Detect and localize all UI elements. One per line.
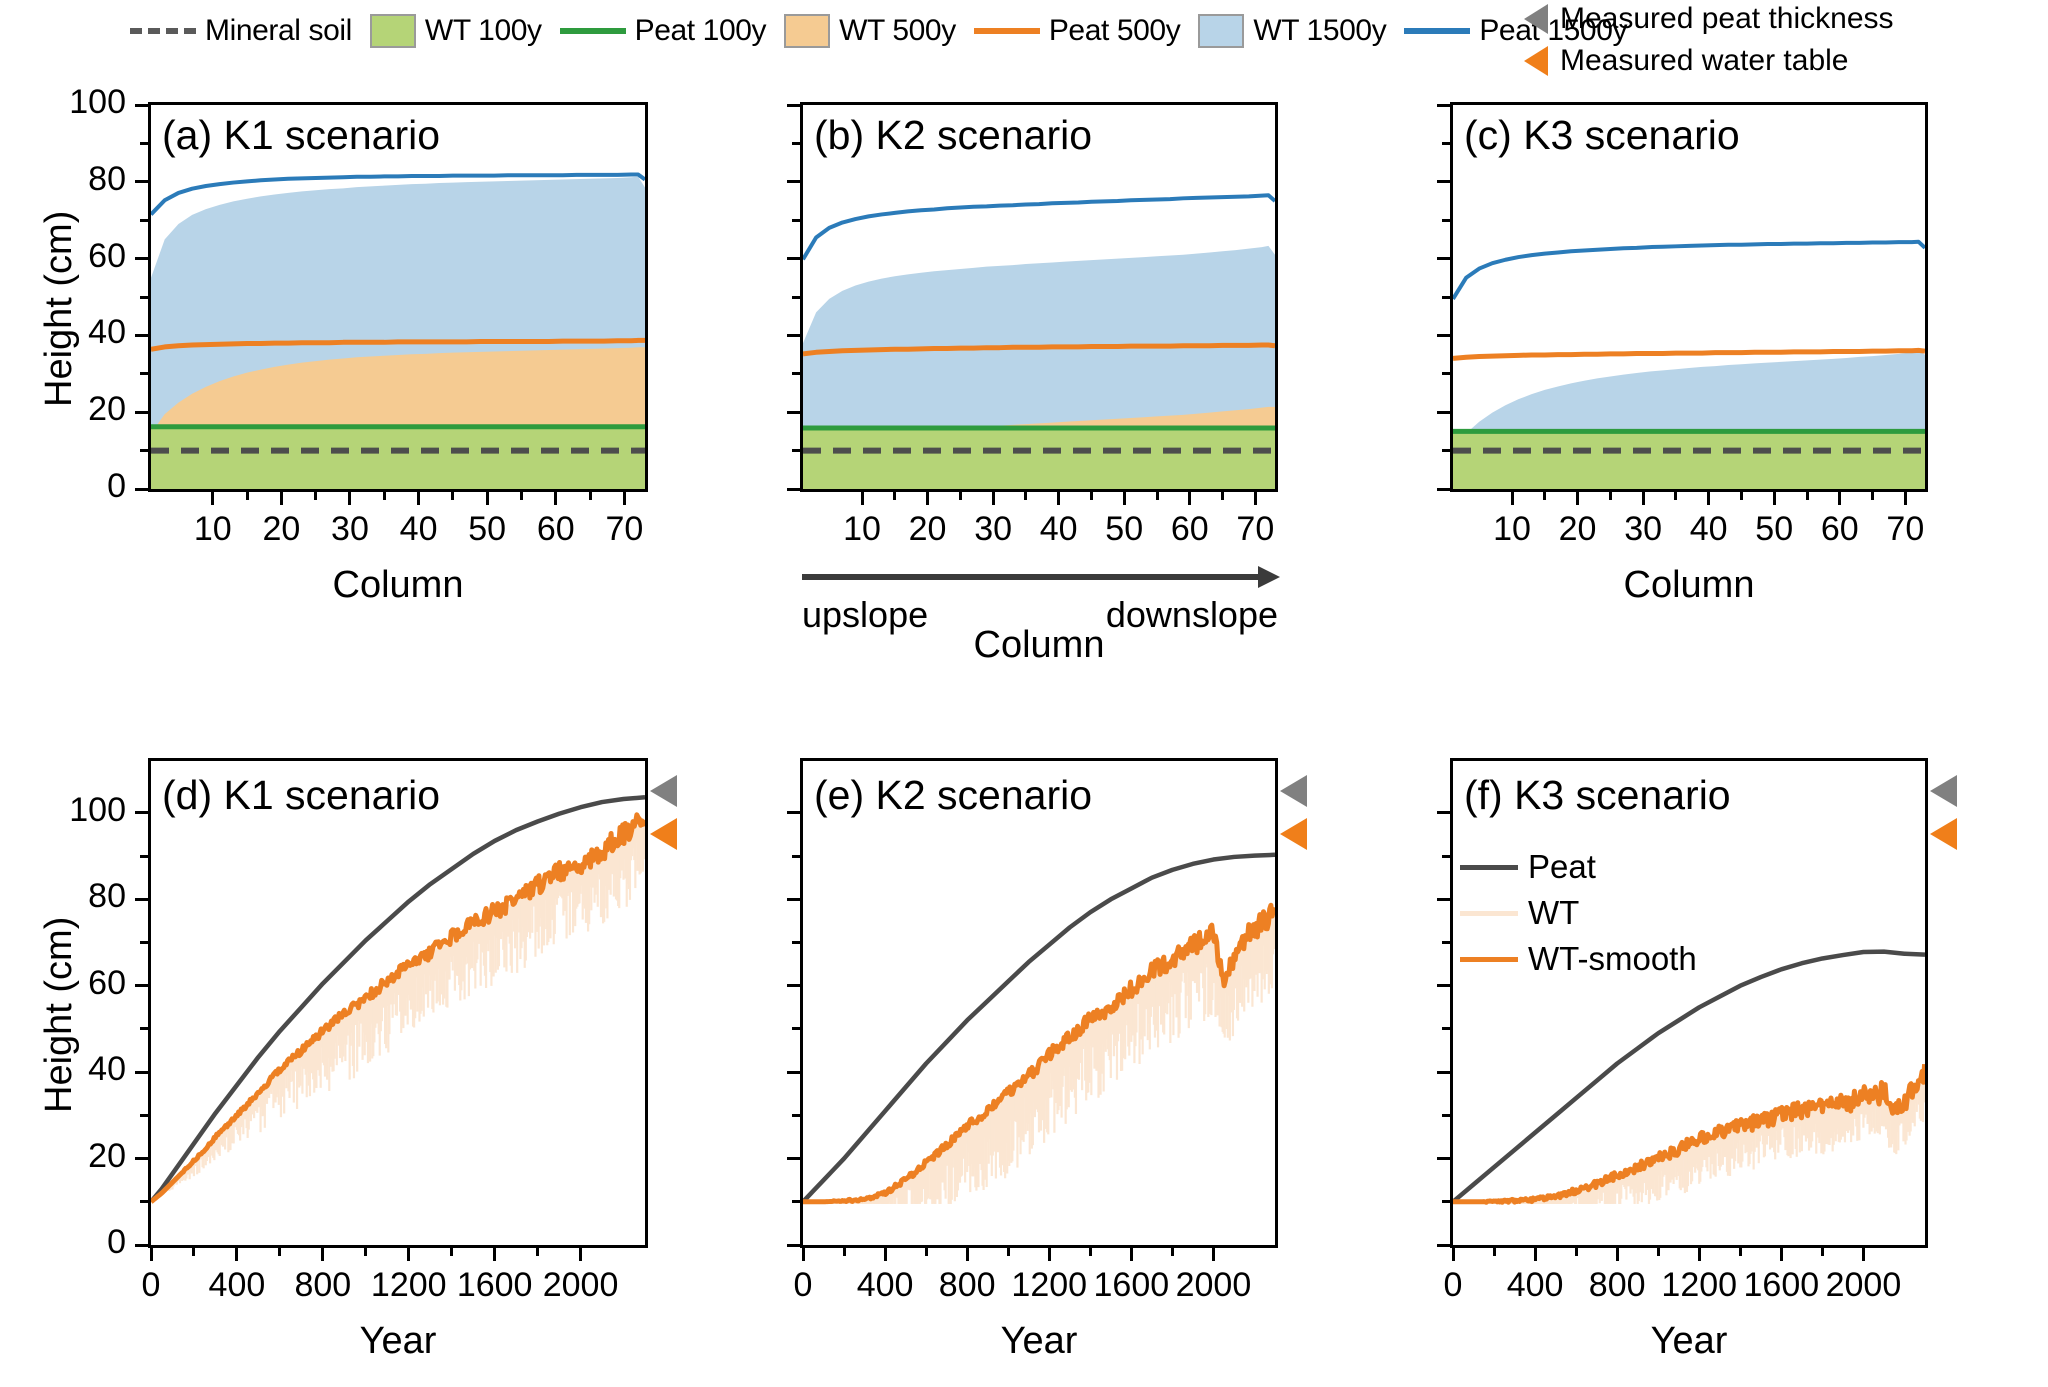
y-tick: [135, 488, 148, 491]
x-tick: [554, 492, 557, 505]
y-tick-label: 0: [107, 1223, 126, 1262]
area-wt-100y: [151, 428, 645, 489]
y-tick: [787, 104, 800, 107]
x-tick-label: 1600: [1094, 1266, 1170, 1305]
x-tick-label: 1200: [1011, 1266, 1087, 1305]
x-minor-tick: [1024, 492, 1027, 500]
wt-500y-swatch-icon: [784, 14, 830, 48]
y-minor-tick: [140, 941, 148, 944]
panel-title-b: (b) K2 scenario: [814, 112, 1092, 159]
line-peat-500y: [151, 340, 645, 349]
plot-area-b: [800, 102, 1278, 492]
legend-label: Peat 500y: [1049, 14, 1181, 48]
line-peat-1500y: [151, 175, 645, 215]
y-minor-tick: [140, 855, 148, 858]
y-tick-label: 60: [88, 964, 126, 1003]
y-tick: [135, 411, 148, 414]
measured-peat-thickness-marker: [1280, 775, 1307, 807]
x-tick: [1838, 492, 1841, 505]
y-minor-tick: [1442, 449, 1450, 452]
panel-a: (a) K1 scenario0204060801001020304050607…: [0, 0, 2048, 1387]
y-tick-label: 20: [88, 390, 126, 429]
peat-500y-line-icon: [974, 28, 1040, 34]
y-minor-tick: [1442, 1200, 1450, 1203]
x-tick-label: 30: [974, 510, 1012, 549]
downslope-label: downslope: [1106, 594, 1278, 636]
measured-legend: Measured peat thicknessMeasured water ta…: [1524, 0, 2044, 82]
x-minor-tick: [314, 492, 317, 500]
wt-100y-swatch-icon: [370, 14, 416, 48]
y-tick-label: 0: [107, 467, 126, 506]
y-tick: [787, 488, 800, 491]
x-minor-tick: [1089, 1248, 1092, 1256]
x-tick: [966, 1248, 969, 1261]
plot-canvas-d: [151, 761, 645, 1245]
x-minor-tick: [1221, 492, 1224, 500]
x-minor-tick: [1007, 1248, 1010, 1256]
y-tick: [135, 1071, 148, 1074]
y-tick: [787, 257, 800, 260]
y-tick: [787, 1244, 800, 1247]
x-tick-label: 70: [1886, 510, 1924, 549]
x-tick: [1698, 1248, 1701, 1261]
x-minor-tick: [192, 1248, 195, 1256]
x-tick: [486, 492, 489, 505]
y-minor-tick: [1442, 941, 1450, 944]
x-axis-label-f: Year: [1651, 1320, 1728, 1363]
y-minor-tick: [792, 219, 800, 222]
x-tick: [1188, 492, 1191, 505]
wt-1500y-swatch-icon: [1198, 14, 1244, 48]
y-minor-tick: [140, 449, 148, 452]
figure-root: Mineral soilWT 100yPeat 100yWT 500yPeat …: [0, 0, 2048, 1387]
x-minor-tick: [1575, 1248, 1578, 1256]
arrow-shaft: [802, 574, 1258, 580]
y-tick: [135, 898, 148, 901]
legend-item-peat-100y[interactable]: Peat 100y: [560, 14, 767, 48]
x-tick: [150, 1248, 153, 1261]
legend-label: WT 1500y: [1253, 14, 1386, 48]
legend-label: Measured peat thickness: [1560, 2, 1894, 36]
x-minor-tick: [1740, 492, 1743, 500]
y-tick: [787, 411, 800, 414]
x-tick: [1130, 1248, 1133, 1261]
legend-item-wt-100y[interactable]: WT 100y: [370, 14, 542, 48]
plot-canvas-a: [151, 105, 645, 489]
wt-line-icon: [1460, 911, 1518, 916]
panel-legend-label: Peat: [1528, 848, 1596, 886]
x-tick: [623, 492, 626, 505]
x-minor-tick: [843, 1248, 846, 1256]
area-wt-500y: [803, 407, 1275, 489]
line-peat-1500y: [1453, 242, 1925, 299]
x-tick: [802, 1248, 805, 1261]
y-tick: [135, 1244, 148, 1247]
panel-legend-item-wt[interactable]: WT: [1460, 890, 1697, 936]
y-tick: [1437, 1244, 1450, 1247]
x-tick-label: 1200: [1661, 1266, 1737, 1305]
arrow-head-icon: [1258, 566, 1280, 588]
top-legend: Mineral soilWT 100yPeat 100yWT 500yPeat …: [0, 0, 1720, 62]
x-axis-label-d: Year: [360, 1320, 437, 1363]
x-minor-tick: [364, 1248, 367, 1256]
x-minor-tick: [1609, 492, 1612, 500]
x-tick: [280, 492, 283, 505]
x-minor-tick: [959, 492, 962, 500]
x-tick-label: 60: [1821, 510, 1859, 549]
y-tick: [1437, 811, 1450, 814]
line-wt-smooth: [1453, 1064, 1925, 1202]
x-tick-label: 50: [1105, 510, 1143, 549]
y-axis-label-d: Height (cm): [38, 917, 81, 1113]
x-tick-label: 0: [142, 1266, 161, 1305]
x-minor-tick: [520, 492, 523, 500]
y-minor-tick: [1442, 372, 1450, 375]
legend-item-measured-water-table[interactable]: Measured water table: [1524, 40, 2044, 82]
x-tick-label: 30: [1624, 510, 1662, 549]
area-wt-100y: [1453, 433, 1925, 489]
x-minor-tick: [278, 1248, 281, 1256]
y-tick-label: 60: [88, 237, 126, 276]
y-minor-tick: [140, 1200, 148, 1203]
line-peat: [1453, 952, 1925, 1202]
x-tick-label: 60: [537, 510, 575, 549]
y-tick: [787, 180, 800, 183]
measured-water-table-marker: [1930, 818, 1957, 850]
y-tick-label: 40: [88, 313, 126, 352]
measured-water-table-marker: [1280, 818, 1307, 850]
x-tick: [1904, 492, 1907, 505]
x-tick-label: 70: [1236, 510, 1274, 549]
y-tick: [787, 984, 800, 987]
y-minor-tick: [792, 1027, 800, 1030]
y-minor-tick: [140, 1027, 148, 1030]
y-tick: [135, 104, 148, 107]
measured-water-table-triangle-icon: [1524, 46, 1548, 76]
x-tick-label: 40: [1040, 510, 1078, 549]
y-tick: [135, 984, 148, 987]
x-tick-label: 1600: [1744, 1266, 1820, 1305]
legend-item-measured-peat-thickness[interactable]: Measured peat thickness: [1524, 0, 2044, 40]
x-tick: [1254, 492, 1257, 505]
y-tick: [1437, 334, 1450, 337]
x-minor-tick: [1543, 492, 1546, 500]
y-tick: [135, 1157, 148, 1160]
x-minor-tick: [1821, 1248, 1824, 1256]
y-minor-tick: [792, 941, 800, 944]
y-minor-tick: [792, 296, 800, 299]
x-tick: [1642, 492, 1645, 505]
x-tick: [1452, 1248, 1455, 1261]
x-tick: [1123, 492, 1126, 505]
x-tick: [493, 1248, 496, 1261]
wt-smooth-line-icon: [1460, 957, 1518, 962]
y-tick: [135, 257, 148, 260]
legend-item-peat-500y[interactable]: Peat 500y: [974, 14, 1181, 48]
y-minor-tick: [1442, 1027, 1450, 1030]
y-tick: [1437, 898, 1450, 901]
x-tick: [1212, 1248, 1215, 1261]
x-tick-label: 0: [794, 1266, 813, 1305]
x-tick: [1048, 1248, 1051, 1261]
y-minor-tick: [1442, 142, 1450, 145]
y-minor-tick: [792, 142, 800, 145]
panel-legend-item-wt-smooth[interactable]: WT-smooth: [1460, 936, 1697, 982]
x-tick-label: 20: [909, 510, 947, 549]
x-minor-tick: [450, 1248, 453, 1256]
x-tick: [1534, 1248, 1537, 1261]
panel-d: (d) K1 scenario0204060801000400800120016…: [0, 0, 2048, 1387]
line-wt-smooth: [803, 905, 1275, 1201]
measured-peat-thickness-marker: [650, 775, 677, 807]
x-tick-label: 30: [331, 510, 369, 549]
panel-title-d: (d) K1 scenario: [162, 772, 440, 819]
area-wt-500y: [1453, 443, 1925, 489]
x-minor-tick: [1674, 492, 1677, 500]
area-wt-1500y: [1453, 351, 1925, 489]
y-tick: [1437, 104, 1450, 107]
y-tick: [1437, 984, 1450, 987]
panel-f-legend: PeatWTWT-smooth: [1460, 844, 1697, 982]
legend-label: WT 500y: [839, 14, 956, 48]
x-tick-label: 1200: [371, 1266, 447, 1305]
legend-label: Measured water table: [1560, 44, 1849, 78]
area-wt-1500y: [151, 177, 645, 489]
line-peat: [151, 797, 645, 1201]
x-tick: [211, 492, 214, 505]
mineral-soil-dash-icon: [130, 28, 196, 34]
panel-title-e: (e) K2 scenario: [814, 772, 1092, 819]
x-tick: [861, 492, 864, 505]
x-axis-label-c: Column: [1624, 564, 1755, 607]
x-minor-tick: [1493, 1248, 1496, 1256]
line-peat: [803, 855, 1275, 1202]
y-tick: [787, 1071, 800, 1074]
x-tick: [926, 492, 929, 505]
x-minor-tick: [1657, 1248, 1660, 1256]
x-tick: [321, 1248, 324, 1261]
x-tick: [1616, 1248, 1619, 1261]
x-tick: [884, 1248, 887, 1261]
y-minor-tick: [1442, 296, 1450, 299]
x-tick-label: 2000: [543, 1266, 619, 1305]
panel-legend-item-peat[interactable]: Peat: [1460, 844, 1697, 890]
x-tick-label: 10: [1493, 510, 1531, 549]
y-minor-tick: [1442, 855, 1450, 858]
y-minor-tick: [792, 372, 800, 375]
x-minor-tick: [246, 492, 249, 500]
x-tick-label: 1600: [457, 1266, 533, 1305]
x-minor-tick: [589, 492, 592, 500]
x-minor-tick: [925, 1248, 928, 1256]
y-tick: [1437, 1157, 1450, 1160]
measured-water-table-marker: [650, 818, 677, 850]
panel-c: (c) K3 scenario10203040506070Column: [0, 0, 2048, 1387]
slope-direction-arrow: [802, 566, 1280, 588]
legend-item-wt-1500y[interactable]: WT 1500y: [1198, 14, 1386, 48]
x-tick-label: 400: [1507, 1266, 1564, 1305]
y-axis-label-a: Height (cm): [38, 211, 81, 407]
upslope-label: upslope: [802, 594, 928, 636]
legend-label: Peat 100y: [635, 14, 767, 48]
x-tick-label: 800: [1589, 1266, 1646, 1305]
x-tick: [348, 492, 351, 505]
x-tick-label: 20: [1559, 510, 1597, 549]
x-tick-label: 0: [1444, 1266, 1463, 1305]
x-tick-label: 400: [857, 1266, 914, 1305]
panel-e: (e) K2 scenario0400800120016002000Year: [0, 0, 2048, 1387]
x-tick-label: 800: [294, 1266, 351, 1305]
plot-canvas-e: [803, 761, 1275, 1245]
line-peat-1500y: [803, 195, 1275, 259]
y-tick-label: 80: [88, 877, 126, 916]
x-axis-label-a: Column: [333, 564, 464, 607]
y-tick: [787, 1157, 800, 1160]
y-minor-tick: [792, 855, 800, 858]
measured-peat-thickness-triangle-icon: [1524, 4, 1548, 34]
panel-legend-label: WT: [1528, 894, 1579, 932]
legend-item-wt-500y[interactable]: WT 500y: [784, 14, 956, 48]
x-tick-label: 20: [262, 510, 300, 549]
y-tick-label: 100: [69, 83, 126, 122]
x-minor-tick: [536, 1248, 539, 1256]
plot-area-d: [148, 758, 648, 1248]
y-minor-tick: [1442, 219, 1450, 222]
peat-line-icon: [1460, 865, 1518, 870]
x-tick-label: 10: [194, 510, 232, 549]
y-tick: [1437, 411, 1450, 414]
x-tick: [992, 492, 995, 505]
x-tick-label: 70: [605, 510, 643, 549]
y-tick: [787, 334, 800, 337]
x-minor-tick: [1806, 492, 1809, 500]
x-minor-tick: [451, 492, 454, 500]
x-minor-tick: [1871, 492, 1874, 500]
legend-label: WT 100y: [425, 14, 542, 48]
x-minor-tick: [1156, 492, 1159, 500]
y-minor-tick: [792, 1200, 800, 1203]
legend-label: Mineral soil: [205, 14, 352, 48]
x-tick-label: 40: [1690, 510, 1728, 549]
y-tick-label: 80: [88, 160, 126, 199]
y-minor-tick: [140, 372, 148, 375]
x-tick-label: 2000: [1826, 1266, 1902, 1305]
plot-area-a: [148, 102, 648, 492]
y-tick: [1437, 257, 1450, 260]
area-wt-1500y: [803, 246, 1275, 489]
area-wt-500y: [151, 347, 645, 489]
y-minor-tick: [140, 296, 148, 299]
y-tick: [1437, 488, 1450, 491]
measured-peat-thickness-marker: [1930, 775, 1957, 807]
plot-area-f: [1450, 758, 1928, 1248]
x-minor-tick: [1090, 492, 1093, 500]
plot-canvas-f: [1453, 761, 1925, 1245]
y-minor-tick: [140, 219, 148, 222]
plot-area-e: [800, 758, 1278, 1248]
y-minor-tick: [792, 1114, 800, 1117]
y-minor-tick: [140, 1114, 148, 1117]
plot-canvas-b: [803, 105, 1275, 489]
y-minor-tick: [792, 449, 800, 452]
y-tick-label: 40: [88, 1050, 126, 1089]
x-tick: [1707, 492, 1710, 505]
line-peat-500y: [803, 345, 1275, 354]
panel-title-a: (a) K1 scenario: [162, 112, 440, 159]
y-tick: [135, 180, 148, 183]
peat-1500y-line-icon: [1404, 28, 1470, 34]
area-wt-100y: [803, 429, 1275, 489]
x-minor-tick: [383, 492, 386, 500]
x-axis-label-e: Year: [1001, 1320, 1078, 1363]
y-tick-label: 100: [69, 791, 126, 830]
y-minor-tick: [140, 142, 148, 145]
x-tick-label: 400: [209, 1266, 266, 1305]
y-tick: [135, 811, 148, 814]
x-tick: [1773, 492, 1776, 505]
x-tick: [1057, 492, 1060, 505]
peat-100y-line-icon: [560, 28, 626, 34]
y-tick: [135, 334, 148, 337]
x-tick-label: 40: [400, 510, 438, 549]
line-peat-500y: [1453, 350, 1925, 358]
x-tick-label: 60: [1171, 510, 1209, 549]
x-minor-tick: [893, 492, 896, 500]
x-tick: [235, 1248, 238, 1261]
x-tick-label: 50: [468, 510, 506, 549]
panel-b: (b) K2 scenario10203040506070Column: [0, 0, 2048, 1387]
x-tick: [1576, 492, 1579, 505]
x-tick-label: 800: [939, 1266, 996, 1305]
x-minor-tick: [1739, 1248, 1742, 1256]
x-tick-label: 50: [1755, 510, 1793, 549]
panel-title-c: (c) K3 scenario: [1464, 112, 1740, 159]
plot-canvas-c: [1453, 105, 1925, 489]
plot-area-c: [1450, 102, 1928, 492]
panel-title-f: (f) K3 scenario: [1464, 772, 1731, 819]
x-tick: [407, 1248, 410, 1261]
line-wt-smooth: [151, 815, 645, 1202]
panel-legend-label: WT-smooth: [1528, 940, 1697, 978]
legend-item-mineral-soil[interactable]: Mineral soil: [130, 14, 352, 48]
y-tick: [787, 898, 800, 901]
y-tick: [1437, 180, 1450, 183]
x-tick: [1862, 1248, 1865, 1261]
x-tick: [417, 492, 420, 505]
y-tick-label: 20: [88, 1137, 126, 1176]
x-axis-label-b: Column: [974, 624, 1105, 667]
y-minor-tick: [1442, 1114, 1450, 1117]
x-tick: [579, 1248, 582, 1261]
x-tick-label: 10: [843, 510, 881, 549]
x-tick: [1511, 492, 1514, 505]
y-tick: [1437, 1071, 1450, 1074]
x-minor-tick: [1171, 1248, 1174, 1256]
y-tick: [787, 811, 800, 814]
panel-f: (f) K3 scenario0400800120016002000Year: [0, 0, 2048, 1387]
x-tick: [1780, 1248, 1783, 1261]
x-tick-label: 2000: [1176, 1266, 1252, 1305]
